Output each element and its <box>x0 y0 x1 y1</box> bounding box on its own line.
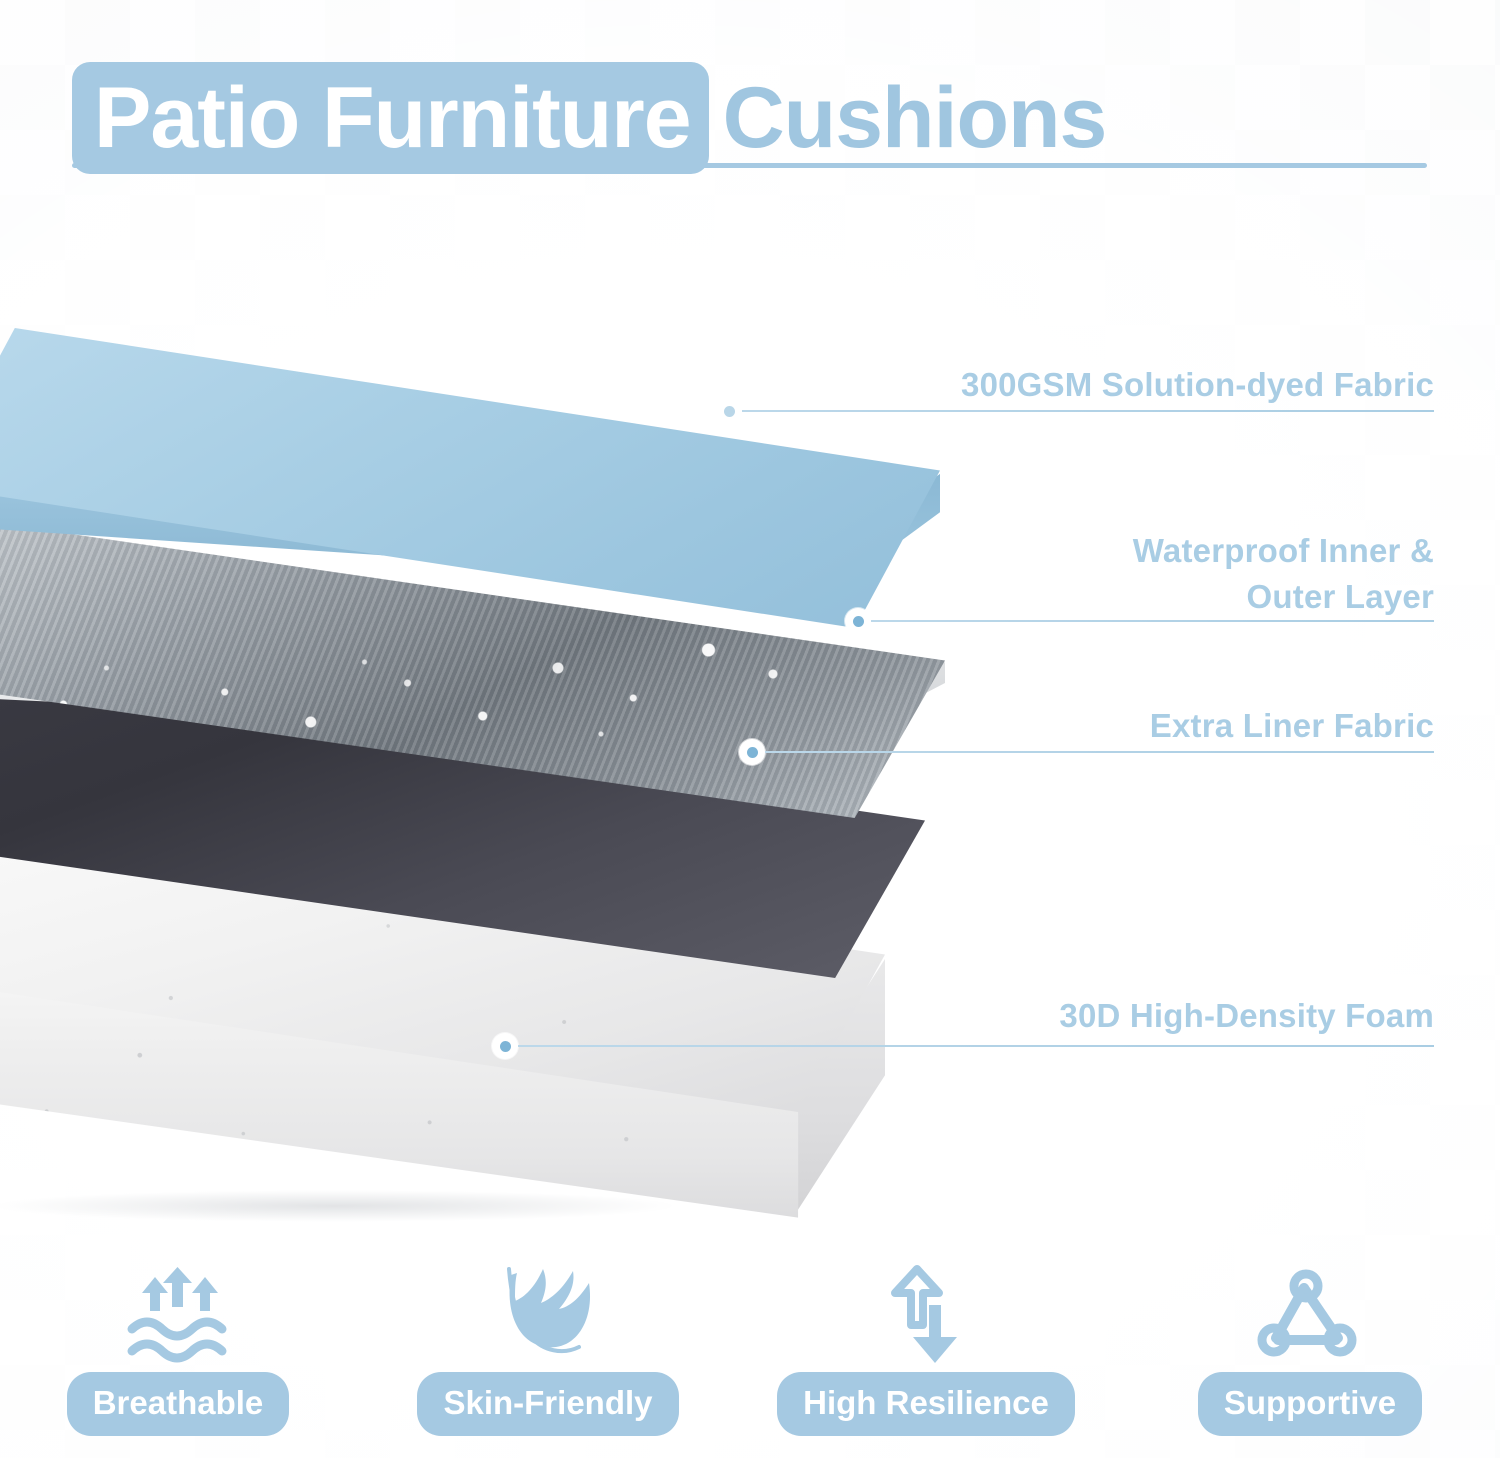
up-down-arrows-icon <box>756 1262 1096 1372</box>
feature-breathable: Breathable <box>8 1262 348 1436</box>
feature-supportive: Supportive <box>1140 1262 1480 1436</box>
callout-leader-liner <box>765 751 1434 753</box>
infographic-canvas: Patio FurnitureCushions 300GSM <box>0 0 1500 1458</box>
callout-leader-foam <box>518 1045 1434 1047</box>
feature-skin-friendly: Skin-Friendly <box>378 1262 718 1436</box>
feature-label-high-resilience: High Resilience <box>777 1372 1075 1436</box>
airflow-waves-icon <box>8 1262 348 1372</box>
page-title: Patio FurnitureCushions <box>0 58 1500 178</box>
feature-high-resilience: High Resilience <box>756 1262 1096 1436</box>
title-plain: Cushions <box>723 70 1107 166</box>
feature-label-breathable: Breathable <box>67 1372 290 1436</box>
feature-row: Breathable Skin-Friendly High Resilience <box>0 1262 1500 1458</box>
feather-icon <box>378 1262 718 1372</box>
feature-label-skin-friendly: Skin-Friendly <box>417 1372 678 1436</box>
callout-leader-fabric <box>742 410 1434 412</box>
callout-label-foam: 30D High-Density Foam <box>634 993 1434 1039</box>
callout-label-waterproof: Waterproof Inner & Outer Layer <box>634 528 1434 620</box>
callout-marker-foam[interactable] <box>492 1033 518 1059</box>
callout-leader-waterproof <box>871 620 1434 622</box>
title-highlight: Patio Furniture <box>72 62 709 174</box>
title-underline <box>72 163 1427 168</box>
callout-label-liner: Extra Liner Fabric <box>634 703 1434 749</box>
triangle-nodes-icon <box>1140 1262 1480 1372</box>
cushion-exploded-diagram <box>0 300 1050 1230</box>
callout-label-fabric: 300GSM Solution-dyed Fabric <box>634 362 1434 408</box>
feature-label-supportive: Supportive <box>1198 1372 1422 1436</box>
